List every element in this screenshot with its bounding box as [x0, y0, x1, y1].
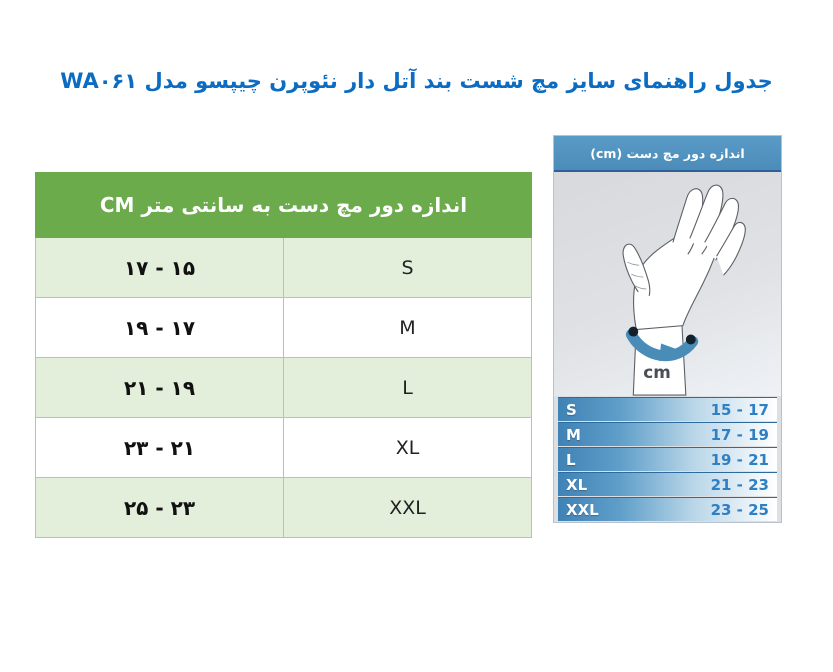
panel-size-label: S [566, 401, 577, 419]
list-item: S 15 - 17 [558, 397, 777, 421]
list-item: L 19 - 21 [558, 447, 777, 471]
panel-header: اندازه دور مچ دست (cm) [554, 136, 781, 172]
table-row: L ۱۹ - ۲۱ [36, 358, 532, 418]
panel-size-label: M [566, 426, 581, 444]
cell-size: XL [284, 418, 532, 478]
table-row: XL ۲۱ - ۲۳ [36, 418, 532, 478]
panel-size-label: XXL [566, 501, 599, 519]
cell-size: M [284, 298, 532, 358]
panel-size-label: L [566, 451, 576, 469]
size-guide-table: اندازه دور مچ دست به سانتی متر CM S ۱۵ -… [35, 172, 532, 538]
illustration-cm-label: cm [643, 362, 671, 382]
panel-size-range: 21 - 23 [711, 476, 769, 494]
table-row: S ۱۵ - ۱۷ [36, 238, 532, 298]
table-row: M ۱۷ - ۱۹ [36, 298, 532, 358]
list-item: XL 21 - 23 [558, 472, 777, 496]
panel-size-range: 15 - 17 [711, 401, 769, 419]
measurement-guide-panel: اندازه دور مچ دست (cm) [553, 135, 782, 523]
panel-size-label: XL [566, 476, 587, 494]
table-row: XXL ۲۳ - ۲۵ [36, 478, 532, 538]
cell-range: ۲۳ - ۲۵ [36, 478, 284, 538]
cell-size: S [284, 238, 532, 298]
table-header-row: اندازه دور مچ دست به سانتی متر CM [36, 173, 532, 238]
hand-measure-icon: cm [554, 172, 781, 396]
cell-size: L [284, 358, 532, 418]
cell-range: ۱۷ - ۱۹ [36, 298, 284, 358]
table-body: S ۱۵ - ۱۷ M ۱۷ - ۱۹ L ۱۹ - ۲۱ XL ۲۱ - ۲۳… [36, 238, 532, 538]
panel-size-range: 19 - 21 [711, 451, 769, 469]
panel-size-range: 17 - 19 [711, 426, 769, 444]
cell-range: ۱۹ - ۲۱ [36, 358, 284, 418]
page-title: جدول راهنمای سایز مچ شست بند آتل دار نئو… [0, 66, 833, 96]
list-item: M 17 - 19 [558, 422, 777, 446]
hand-wrist-illustration: cm [554, 172, 781, 396]
panel-size-range: 23 - 25 [711, 501, 769, 519]
table-header: اندازه دور مچ دست به سانتی متر CM [36, 173, 532, 238]
list-item: XXL 23 - 25 [558, 497, 777, 521]
cell-range: ۱۵ - ۱۷ [36, 238, 284, 298]
table-header-cell: اندازه دور مچ دست به سانتی متر CM [36, 173, 532, 238]
cell-range: ۲۱ - ۲۳ [36, 418, 284, 478]
panel-size-list: S 15 - 17 M 17 - 19 L 19 - 21 XL 21 - 23… [554, 396, 781, 523]
cell-size: XXL [284, 478, 532, 538]
